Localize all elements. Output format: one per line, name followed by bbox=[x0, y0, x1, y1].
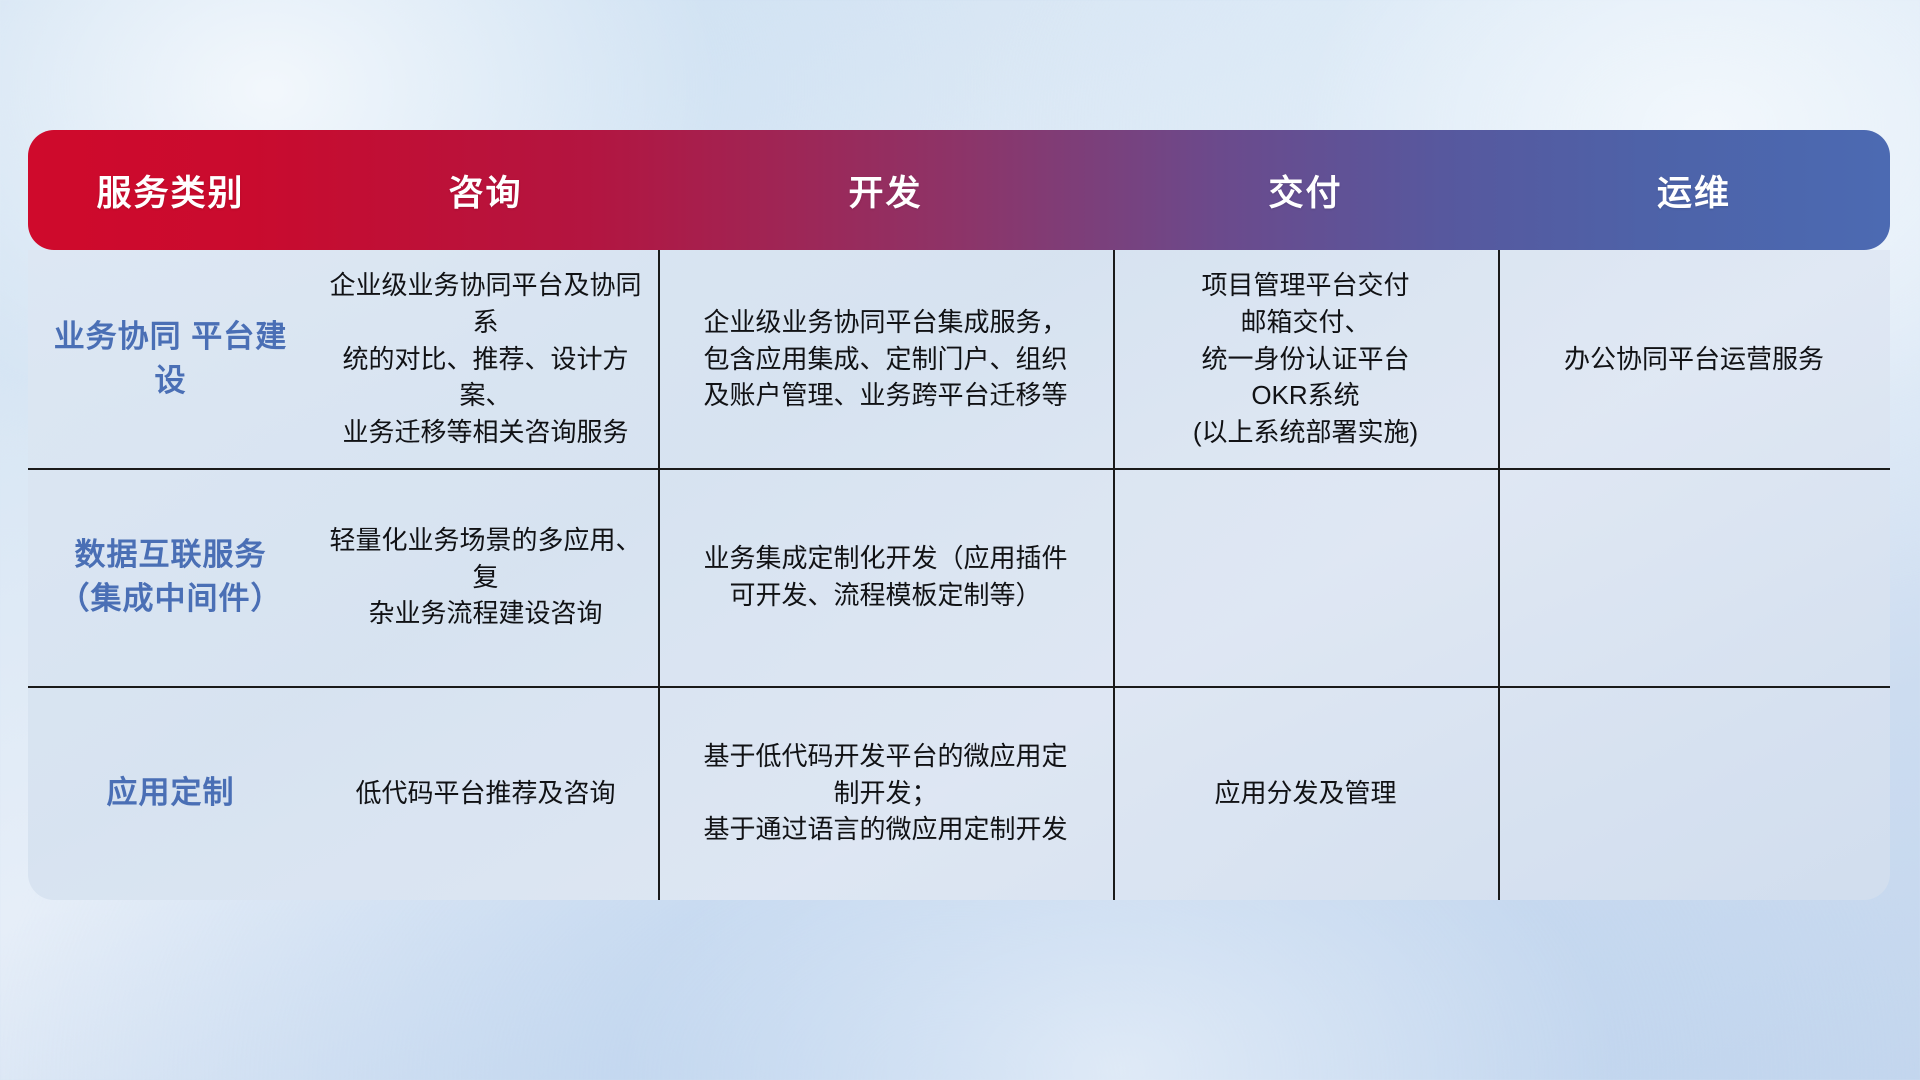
row-category-cell: 应用定制 bbox=[28, 686, 313, 900]
cell-text-development: 企业级业务协同平台集成服务， 包含应用集成、定制门户、组织 及账户管理、业务跨平… bbox=[703, 304, 1067, 415]
category-label: 数据互联服务 （集成中间件） bbox=[42, 533, 299, 621]
cell-text-operations: 办公协同平台运营服务 bbox=[1564, 341, 1824, 378]
row-category-cell: 业务协同 平台建设 bbox=[28, 250, 313, 468]
header-cell-consulting: 咨询 bbox=[313, 130, 658, 250]
table-body: 业务协同 平台建设 企业级业务协同平台及协同系 统的对比、推荐、设计方案、 业务… bbox=[28, 250, 1890, 900]
table-row: 业务协同 平台建设 企业级业务协同平台及协同系 统的对比、推荐、设计方案、 业务… bbox=[28, 250, 1890, 468]
cell-operations: 办公协同平台运营服务 bbox=[1498, 250, 1890, 468]
cell-text-development: 基于低代码开发平台的微应用定 制开发； 基于通过语言的微应用定制开发 bbox=[703, 738, 1067, 849]
cell-text-consulting: 低代码平台推荐及咨询 bbox=[355, 775, 615, 812]
header-cell-service-category: 服务类别 bbox=[28, 130, 313, 250]
header-label-operations: 运维 bbox=[1657, 165, 1731, 216]
header-label-consulting: 咨询 bbox=[448, 165, 522, 216]
cell-consulting: 企业级业务协同平台及协同系 统的对比、推荐、设计方案、 业务迁移等相关咨询服务 bbox=[313, 250, 658, 468]
slide-canvas: 服务类别 咨询 开发 交付 运维 业务协同 平台建设 企业级业务协同平台及协同 bbox=[0, 0, 1920, 1080]
header-cell-delivery: 交付 bbox=[1113, 130, 1498, 250]
table-header-row: 服务类别 咨询 开发 交付 运维 bbox=[28, 130, 1890, 250]
cell-delivery: 应用分发及管理 bbox=[1113, 686, 1498, 900]
cell-text-delivery: 应用分发及管理 bbox=[1214, 775, 1396, 812]
cell-development: 企业级业务协同平台集成服务， 包含应用集成、定制门户、组织 及账户管理、业务跨平… bbox=[658, 250, 1113, 468]
cell-consulting: 低代码平台推荐及咨询 bbox=[313, 686, 658, 900]
table-row: 数据互联服务 （集成中间件） 轻量化业务场景的多应用、复 杂业务流程建设咨询 业… bbox=[28, 468, 1890, 686]
table-row: 应用定制 低代码平台推荐及咨询 基于低代码开发平台的微应用定 制开发； 基于通过… bbox=[28, 686, 1890, 900]
cell-text-delivery: 项目管理平台交付 邮箱交付、 统一身份认证平台 OKR系统 (以上系统部署实施) bbox=[1193, 267, 1418, 452]
header-label-development: 开发 bbox=[848, 165, 922, 216]
cell-operations bbox=[1498, 468, 1890, 686]
cell-text-consulting: 企业级业务协同平台及协同系 统的对比、推荐、设计方案、 业务迁移等相关咨询服务 bbox=[327, 267, 644, 452]
cell-development: 业务集成定制化开发（应用插件 可开发、流程模板定制等） bbox=[658, 468, 1113, 686]
cell-text-development: 业务集成定制化开发（应用插件 可开发、流程模板定制等） bbox=[703, 540, 1067, 614]
category-label: 应用定制 bbox=[107, 771, 235, 815]
header-cell-development: 开发 bbox=[658, 130, 1113, 250]
cell-operations bbox=[1498, 686, 1890, 900]
cell-consulting: 轻量化业务场景的多应用、复 杂业务流程建设咨询 bbox=[313, 468, 658, 686]
cell-development: 基于低代码开发平台的微应用定 制开发； 基于通过语言的微应用定制开发 bbox=[658, 686, 1113, 900]
cell-text-consulting: 轻量化业务场景的多应用、复 杂业务流程建设咨询 bbox=[327, 522, 644, 633]
cell-delivery bbox=[1113, 468, 1498, 686]
header-label-delivery: 交付 bbox=[1268, 165, 1342, 216]
service-matrix-table: 服务类别 咨询 开发 交付 运维 业务协同 平台建设 企业级业务协同平台及协同 bbox=[28, 130, 1890, 900]
header-cell-operations: 运维 bbox=[1498, 130, 1890, 250]
row-category-cell: 数据互联服务 （集成中间件） bbox=[28, 468, 313, 686]
header-label-service-category: 服务类别 bbox=[96, 165, 244, 216]
category-label: 业务协同 平台建设 bbox=[42, 315, 299, 403]
cell-delivery: 项目管理平台交付 邮箱交付、 统一身份认证平台 OKR系统 (以上系统部署实施) bbox=[1113, 250, 1498, 468]
